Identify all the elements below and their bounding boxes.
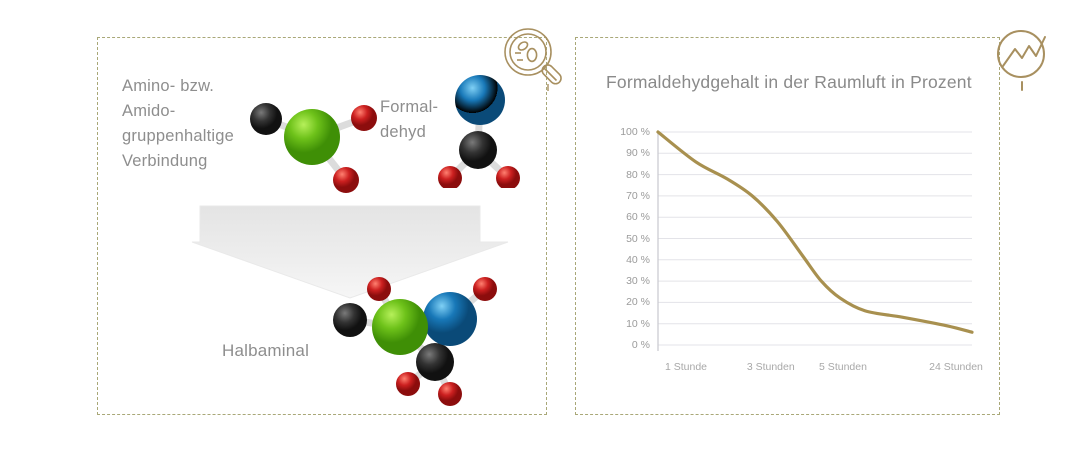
chart-svg [600,118,1000,380]
y-axis-tick: 60 % [626,211,650,223]
y-axis-tick: 50 % [626,233,650,245]
formaldehyde-molecule [428,68,533,188]
y-axis-tick: 70 % [626,190,650,202]
chart-plot: 100 %90 %80 %70 %60 %50 %40 %30 %20 %10 … [600,118,1000,380]
x-axis-tick: 3 Stunden [747,361,795,373]
trend-chart-icon [988,22,1060,94]
y-axis-tick: 80 % [626,169,650,181]
y-axis-tick: 10 % [626,318,650,330]
y-axis-tick: 100 % [620,126,650,138]
amino-compound-molecule [238,82,388,197]
x-axis-tick: 5 Stunden [819,361,867,373]
y-axis-tick: 30 % [626,275,650,287]
y-axis-tick: 40 % [626,254,650,266]
y-axis-tick: 90 % [626,147,650,159]
chart-title: Formaldehydgehalt in der Raumluft in Pro… [606,72,972,93]
x-axis-tick: 24 Stunden [929,361,983,373]
x-axis-tick: 1 Stunde [665,361,707,373]
y-axis-tick: 0 % [632,339,650,351]
screenshot-root: Amino- bzw. Amido- gruppenhaltige Verbin… [0,0,1080,462]
halbaminal-molecule [320,272,520,407]
y-axis-tick: 20 % [626,296,650,308]
